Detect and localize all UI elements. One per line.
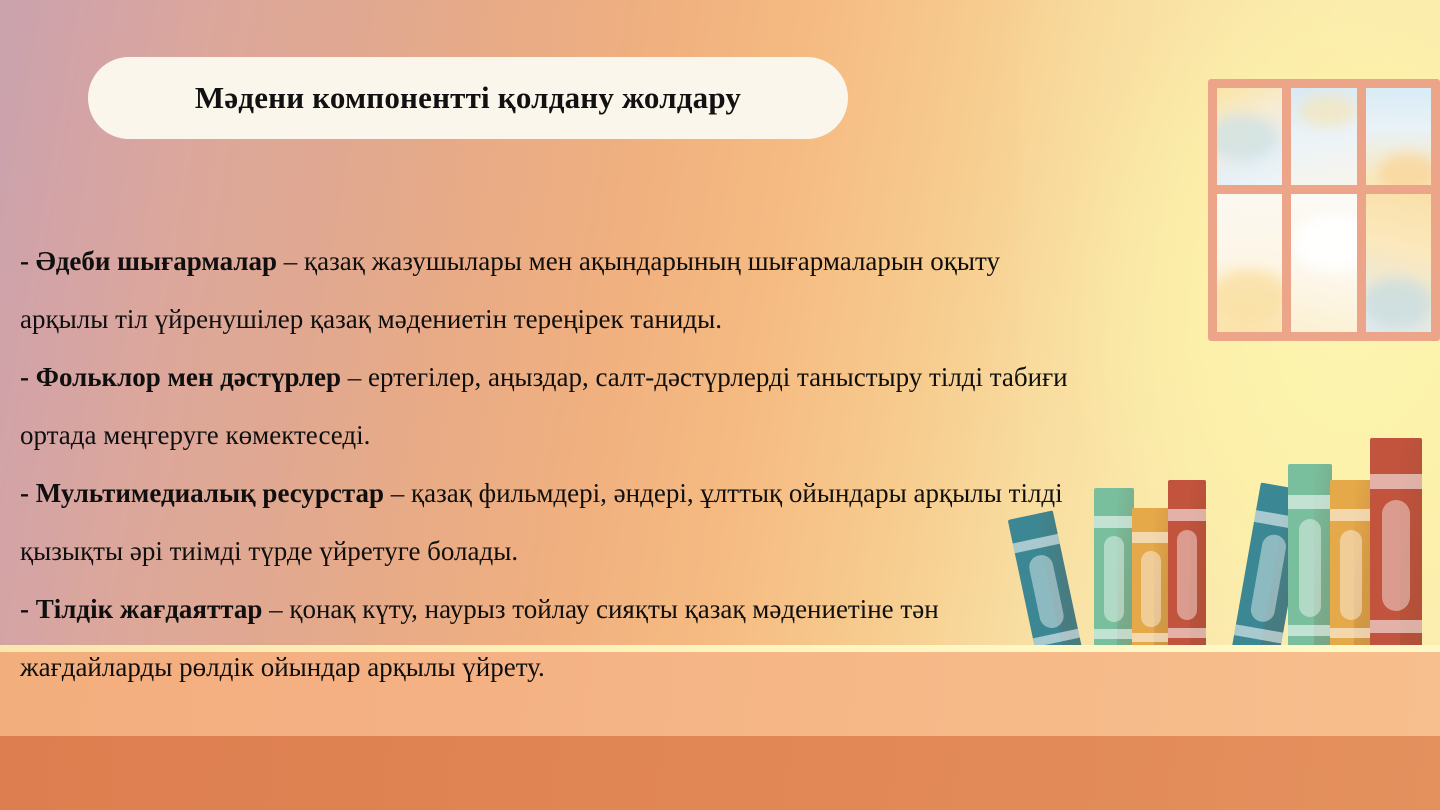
book-gold-1 [1132, 508, 1170, 660]
content-body: - Әдеби шығармалар – қазақ жазушылары ме… [20, 232, 1080, 696]
slide-canvas: Мәдени компонентті қолдану жолдару - Әде… [0, 0, 1440, 810]
shelf-front-edge [0, 736, 1440, 810]
window-pane [1366, 194, 1431, 332]
paragraph-term: Тілдік жағдаяттар [36, 594, 263, 624]
book-label [1104, 536, 1125, 622]
book-band [1094, 629, 1134, 639]
paragraph-dash: - [20, 594, 36, 624]
paragraph-separator: – [262, 594, 289, 624]
book-band [1370, 474, 1422, 490]
book-label [1299, 519, 1322, 617]
paragraph-separator: – [384, 478, 411, 508]
page-title: Мәдени компонентті қолдану жолдару [195, 80, 741, 116]
title-pill: Мәдени компонентті қолдану жолдару [88, 57, 848, 139]
content-paragraph: - Әдеби шығармалар – қазақ жазушылары ме… [20, 232, 1080, 348]
book-green-2 [1288, 464, 1332, 660]
book-band [1094, 516, 1134, 528]
book-gold-2 [1330, 480, 1372, 660]
book-label [1382, 500, 1409, 611]
window-pane [1366, 88, 1431, 185]
paragraph-dash: - [20, 246, 36, 276]
book-band [1288, 495, 1332, 509]
content-paragraph: - Фольклор мен дәстүрлер – ертегілер, аң… [20, 348, 1080, 464]
book-label [1177, 530, 1197, 620]
paragraph-dash: - [20, 478, 36, 508]
book-band [1330, 509, 1372, 522]
window-pane [1291, 194, 1356, 332]
paragraph-separator: – [341, 362, 368, 392]
book-band [1132, 633, 1170, 642]
paragraph-term: Фольклор мен дәстүрлер [36, 362, 341, 392]
window-pane [1217, 88, 1282, 185]
paragraph-term: Әдеби шығармалар [36, 246, 277, 276]
book-red-1 [1168, 480, 1206, 660]
bookshelf-books [1020, 390, 1440, 660]
content-paragraph: - Тілдік жағдаяттар – қонақ күту, наурыз… [20, 580, 1080, 696]
paragraph-separator: – [277, 246, 304, 276]
window-pane [1291, 88, 1356, 185]
book-band [1168, 509, 1206, 522]
book-red-2 [1370, 438, 1422, 660]
window-pane [1217, 194, 1282, 332]
book-green-1 [1094, 488, 1134, 660]
book-label [1340, 530, 1362, 620]
book-label [1141, 551, 1161, 627]
book-band [1168, 628, 1206, 639]
window-icon [1208, 79, 1440, 341]
book-band [1330, 628, 1372, 639]
book-band [1370, 620, 1422, 633]
book-band [1132, 532, 1170, 543]
content-paragraph: - Мультимедиалық ресурстар – қазақ фильм… [20, 464, 1080, 580]
paragraph-term: Мультимедиалық ресурстар [36, 478, 384, 508]
paragraph-dash: - [20, 362, 36, 392]
book-band [1288, 625, 1332, 637]
